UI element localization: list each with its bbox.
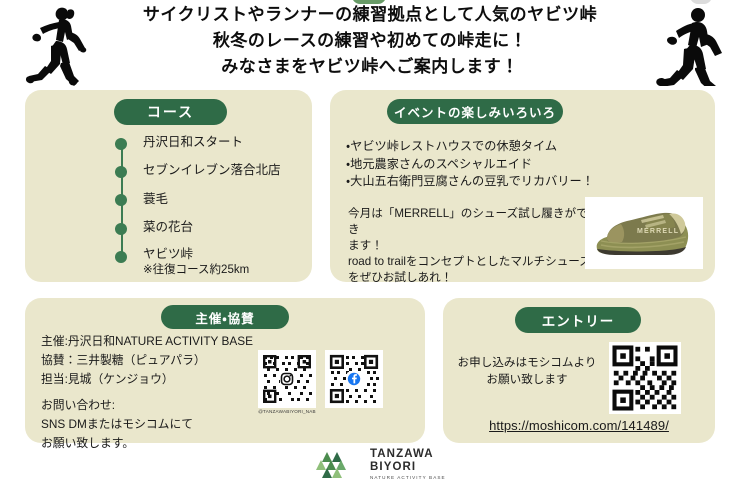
spacer xyxy=(41,389,271,396)
event-benefit-list: ・ヤビツ峠レストハウスでの休憩タイム ・地元農家さんのスペシャルエイド ・大山五… xyxy=(346,138,696,191)
header-line-2: 秋冬のレースの練習や初めての峠走に！ xyxy=(90,28,650,54)
instagram-qr-code[interactable] xyxy=(258,350,316,408)
entry-section-pill: エントリー xyxy=(515,307,641,333)
instagram-qr-block[interactable]: @TANZAWABIYORI_NAB xyxy=(258,350,316,414)
course-stop-label: 丹沢日和スタート xyxy=(143,134,243,150)
moshicom-entry-qr-code[interactable] xyxy=(609,342,681,414)
contact-line-3: お願い致します。 xyxy=(41,434,271,453)
merrell-shoe-image: MERRELL xyxy=(585,197,703,269)
entry-url-link[interactable]: https://moshicom.com/141489/ xyxy=(443,418,715,433)
footer-logo-text: TANZAWA BIYORI NATURE ACTIVITY BASE xyxy=(370,448,446,480)
svg-text:MERRELL: MERRELL xyxy=(637,228,679,235)
timeline-dot xyxy=(115,223,127,235)
merrell-note-line-4: をぜひお試しあれ！ xyxy=(348,270,598,286)
event-section-pill: イベントの楽しみいろいろ xyxy=(387,99,563,124)
course-stop-label: 菜の花台 xyxy=(143,219,193,235)
course-stop-label: 蓑毛 xyxy=(143,191,168,207)
header-line-3: みなさまをヤビツ峠へご案内します！ xyxy=(90,54,650,80)
merrell-note-line-2: ます！ xyxy=(348,238,598,254)
sponsor-contact-person-line: 担当:見城（ケンジョウ） xyxy=(41,370,271,389)
header: サイクリストやランナーの練習拠点として人気のヤビツ峠 秋冬のレースの練習や初めて… xyxy=(0,0,740,90)
footer-logo: TANZAWA BIYORI NATURE ACTIVITY BASE xyxy=(312,448,442,480)
header-title-block: サイクリストやランナーの練習拠点として人気のヤビツ峠 秋冬のレースの練習や初めて… xyxy=(90,2,650,80)
course-section-pill: コース xyxy=(114,99,227,125)
course-timeline xyxy=(115,138,129,263)
timeline-dot xyxy=(115,194,127,206)
course-card: コース 丹沢日和スタート セブンイレブン落合北店 蓑毛 菜の花台 ヤビツ峠 ※往… xyxy=(25,90,312,282)
timeline-dot xyxy=(115,138,127,150)
merrell-trial-note: 今月は「MERRELL」のシューズ試し履きができ ます！ road to tra… xyxy=(348,206,598,286)
sponsor-supporter-line: 協賛：三井製糖（ピュアパラ） xyxy=(41,351,271,370)
facebook-glyph xyxy=(348,373,360,385)
course-stop-label: ヤビツ峠 xyxy=(143,246,193,262)
facebook-qr-block[interactable] xyxy=(325,350,383,408)
timeline-dot xyxy=(115,251,127,263)
contact-heading: お問い合わせ: xyxy=(41,396,271,415)
facebook-qr-code[interactable] xyxy=(325,350,383,408)
female-runner-silhouette-icon xyxy=(18,4,88,86)
event-benefit-item: ・大山五右衛門豆腐さんの豆乳でリカバリー！ xyxy=(346,173,696,191)
entry-card: エントリー お申し込みはモシコムより お願い致します xyxy=(443,298,715,443)
triangle-trees-icon xyxy=(312,448,364,480)
merrell-note-line-3: road to trailをコンセプトとしたマルチシューズ xyxy=(348,254,598,270)
logo-name-line-2: BIYORI xyxy=(370,461,446,474)
logo-name-line-1: TANZAWA xyxy=(370,448,446,461)
course-distance-note: ※往復コース約25km xyxy=(143,262,249,278)
event-card: イベントの楽しみいろいろ ・ヤビツ峠レストハウスでの休憩タイム ・地元農家さんの… xyxy=(330,90,715,282)
timeline-dot xyxy=(115,166,127,178)
male-runner-silhouette-icon xyxy=(652,4,722,86)
entry-instruction-text: お申し込みはモシコムより お願い致します xyxy=(457,354,597,388)
sponsor-card: 主催・協賛 主催:丹沢日和NATURE ACTIVITY BASE 協賛：三井製… xyxy=(25,298,425,443)
flyer-root: サイクリストやランナーの練習拠点として人気のヤビツ峠 秋冬のレースの練習や初めて… xyxy=(0,0,740,483)
entry-instruction-line-2: お願い致します xyxy=(457,371,597,388)
sponsor-section-pill: 主催・協賛 xyxy=(161,305,289,329)
course-stop-label: セブンイレブン落合北店 xyxy=(143,162,281,178)
event-benefit-item: ・地元農家さんのスペシャルエイド xyxy=(346,156,696,174)
logo-tagline: NATURE ACTIVITY BASE xyxy=(370,475,446,480)
header-line-1: サイクリストやランナーの練習拠点として人気のヤビツ峠 xyxy=(90,2,650,28)
sponsor-organizer-line: 主催:丹沢日和NATURE ACTIVITY BASE xyxy=(41,332,271,351)
merrell-note-line-1: 今月は「MERRELL」のシューズ試し履きができ xyxy=(348,206,598,238)
sponsor-info-list: 主催:丹沢日和NATURE ACTIVITY BASE 協賛：三井製糖（ピュアパ… xyxy=(41,332,271,453)
entry-instruction-line-1: お申し込みはモシコムより xyxy=(457,354,597,371)
contact-line-2: SNS DMまたはモシコムにて xyxy=(41,415,271,434)
instagram-handle-caption: @TANZAWABIYORI_NAB xyxy=(258,409,316,414)
event-benefit-item: ・ヤビツ峠レストハウスでの休憩タイム xyxy=(346,138,696,156)
